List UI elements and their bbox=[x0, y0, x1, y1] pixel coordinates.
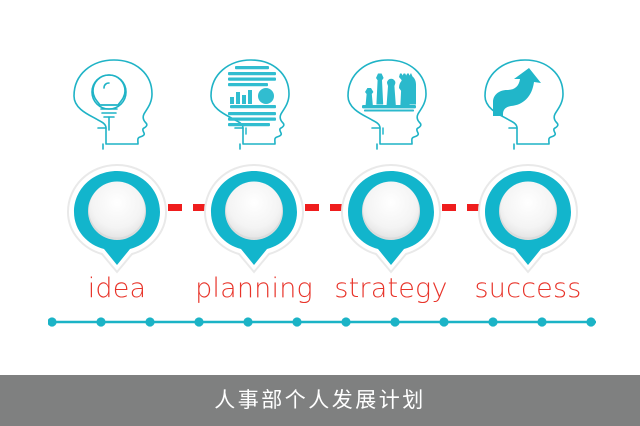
dotted-timeline-rule bbox=[48, 316, 600, 328]
caption-banner: 人事部个人发展计划 bbox=[0, 375, 640, 426]
head-growth-arrow-icon bbox=[471, 52, 587, 152]
head-lightbulb-icon bbox=[60, 52, 176, 152]
pin-marker-strategy[interactable] bbox=[336, 160, 446, 275]
stage-label-idea: idea bbox=[37, 272, 197, 306]
head-icon-row bbox=[0, 52, 640, 152]
pin-marker-planning[interactable] bbox=[199, 160, 309, 275]
pin-marker-idea[interactable] bbox=[62, 160, 172, 275]
pin-marker-row bbox=[0, 160, 640, 275]
infographic-canvas: idea planning strategy success bbox=[0, 0, 640, 426]
head-report-chart-icon bbox=[197, 52, 313, 152]
stage-label-strategy: strategy bbox=[311, 272, 471, 306]
head-chess-pieces-icon bbox=[334, 52, 450, 152]
stage-label-row: idea planning strategy success bbox=[0, 272, 640, 308]
stage-label-success: success bbox=[448, 272, 608, 306]
caption-text: 人事部个人发展计划 bbox=[214, 375, 426, 426]
pin-marker-success[interactable] bbox=[473, 160, 583, 275]
stage-label-planning: planning bbox=[174, 272, 334, 306]
